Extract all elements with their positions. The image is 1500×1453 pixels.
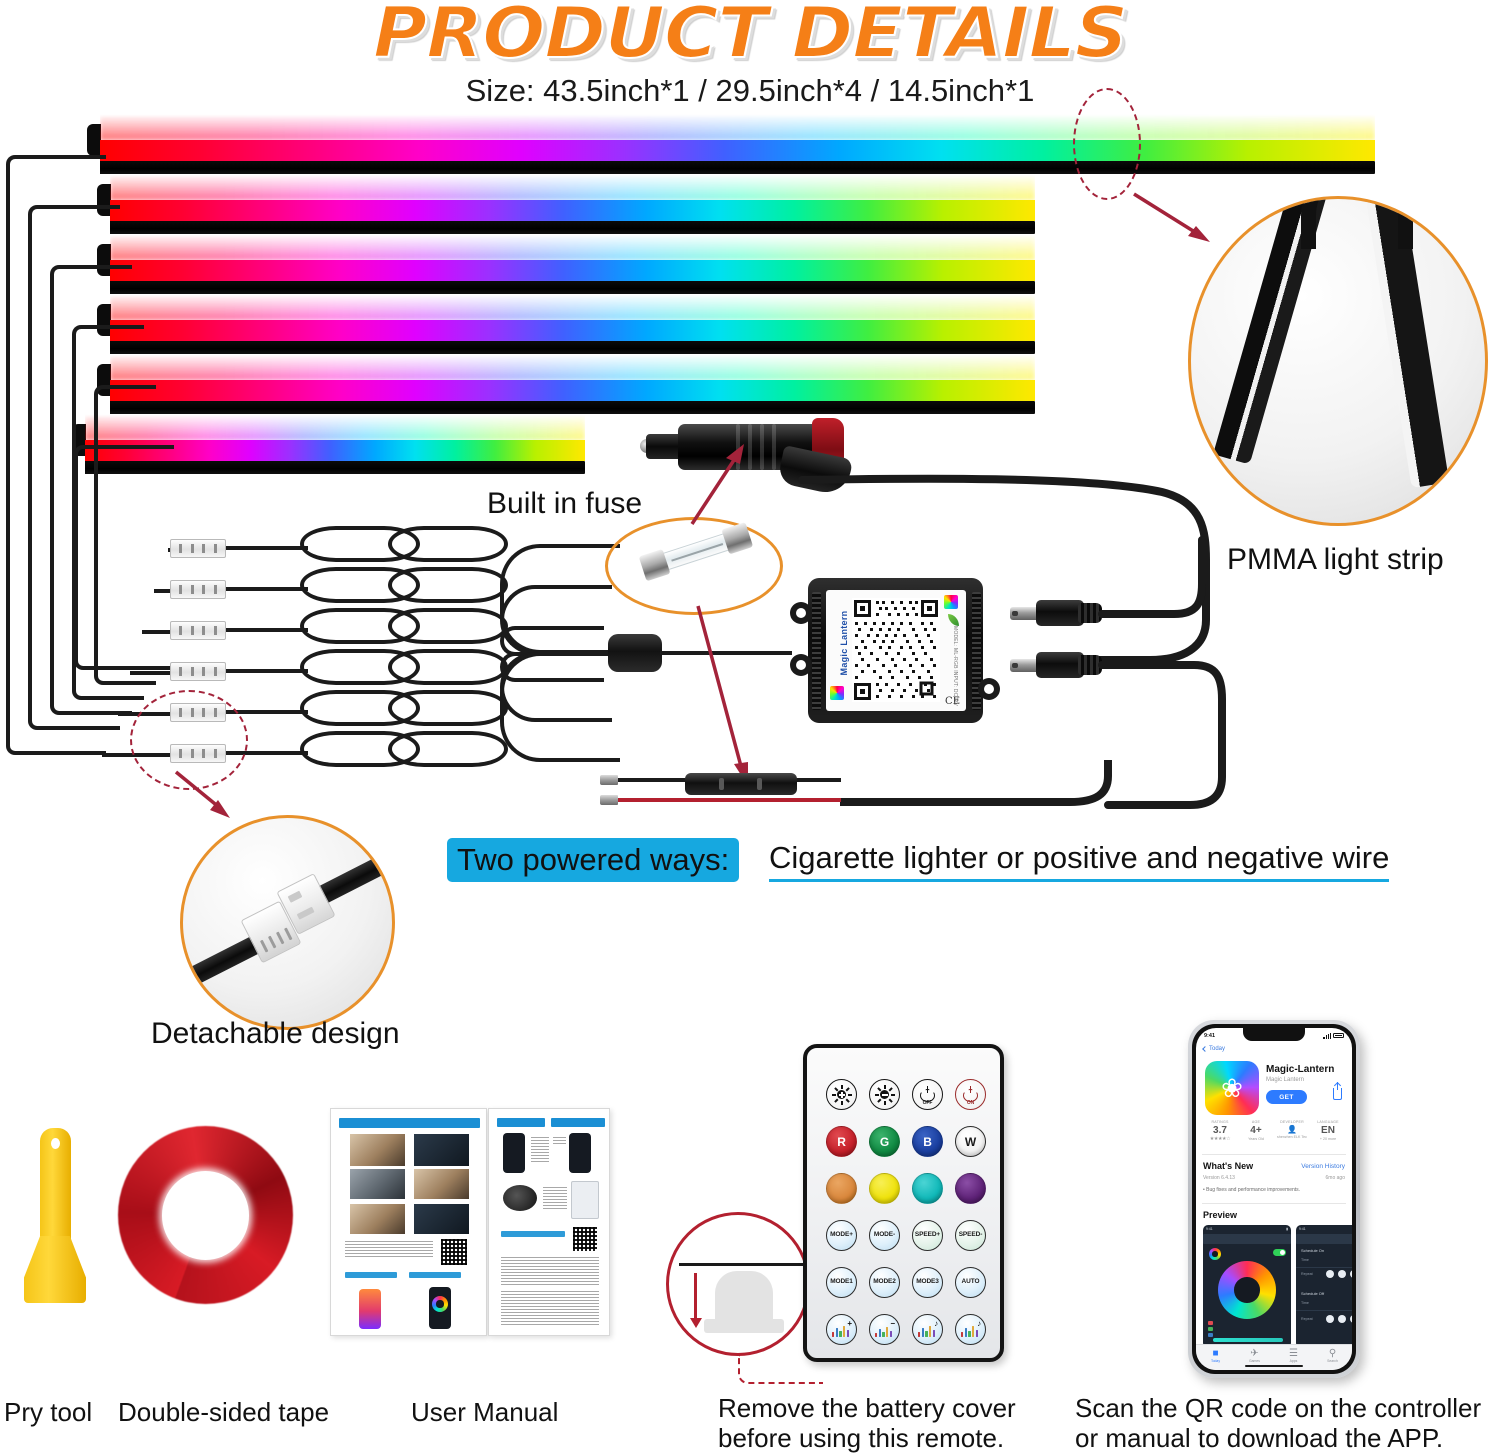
remote-button-bright-up[interactable] xyxy=(826,1079,857,1110)
controller-mount-ear xyxy=(978,678,1000,700)
manual-app-render xyxy=(503,1133,525,1173)
manual-text-block xyxy=(501,1291,599,1325)
remote-button-label: ON xyxy=(963,1101,978,1106)
app-note-line1: Scan the QR code on the controller xyxy=(1075,1393,1481,1423)
remote-button-mode1[interactable]: MODE1 xyxy=(826,1267,857,1298)
connector-wire xyxy=(154,589,170,593)
meta-caption: DEVELOPER xyxy=(1274,1120,1310,1124)
harness-wire xyxy=(226,628,308,632)
pmma-detail-photo xyxy=(1188,196,1488,526)
wire-ferrule xyxy=(600,795,618,805)
tab-search[interactable]: ⚲ Search xyxy=(1313,1348,1352,1363)
manual-text-block xyxy=(543,1187,567,1209)
light-strip-5 xyxy=(110,358,1035,408)
preview-time: 9:41 xyxy=(1299,1227,1306,1231)
release-notes: • Bug fixes and performance improvements… xyxy=(1203,1187,1300,1193)
remote-button-music-down[interactable]: − xyxy=(869,1314,900,1345)
pmma-label: PMMA light strip xyxy=(1227,543,1444,577)
manual-photo xyxy=(414,1204,469,1234)
detachable-design-label: Detachable design xyxy=(151,1017,400,1051)
pry-tool-blade xyxy=(24,1236,86,1303)
detach-slot xyxy=(288,891,303,903)
detach-pin xyxy=(260,940,269,953)
manual-section-bar xyxy=(501,1231,565,1237)
meta-caption: AGE xyxy=(1238,1120,1274,1124)
remote-button-mode-plus[interactable]: MODE+ xyxy=(826,1220,857,1251)
remote-button-off[interactable]: OFF xyxy=(912,1079,943,1110)
time-label-2: Time xyxy=(1301,1301,1309,1305)
ir-remote-control: OFF ON R G B W MODE+ MODE- SPEED+ SPEED-… xyxy=(803,1044,1004,1362)
music-note-1-icon: ♪ xyxy=(918,1322,937,1337)
detach-pin xyxy=(284,927,293,940)
harness-wire xyxy=(226,546,308,550)
remote-button-auto[interactable]: AUTO xyxy=(955,1267,986,1298)
tab-label: Search xyxy=(1313,1359,1352,1363)
strip-black-base xyxy=(110,281,1035,294)
strip-color-core xyxy=(110,260,1035,281)
cable-loop xyxy=(388,608,508,644)
manual-photo xyxy=(350,1204,405,1234)
remote-button-mode-minus[interactable]: MODE- xyxy=(869,1220,900,1251)
search-icon: ⚲ xyxy=(1313,1348,1352,1359)
preview-time: 9:41 xyxy=(1206,1227,1213,1231)
tab-today[interactable]: ■ Today xyxy=(1196,1348,1235,1363)
dc-cable-1 xyxy=(1098,530,1218,630)
manual-app-render xyxy=(569,1133,591,1173)
meta-value: EN xyxy=(1310,1125,1346,1136)
strip-black-base xyxy=(110,401,1035,414)
powered-ways-tag: Two powered ways: xyxy=(447,838,739,882)
manual-photo xyxy=(350,1169,405,1199)
color-wheel xyxy=(1218,1261,1276,1319)
meta-stars: ★★★★☆ xyxy=(1202,1136,1238,1142)
rgb-logo-icon xyxy=(944,595,958,609)
detach-slot xyxy=(297,907,315,920)
manual-caption: User Manual xyxy=(411,1397,558,1427)
manual-text-block xyxy=(553,1137,566,1145)
dc-plug-body xyxy=(1036,600,1084,626)
remote-button-speed-minus[interactable]: SPEED- xyxy=(955,1220,986,1251)
battery-cover-callout xyxy=(666,1212,810,1356)
strip-end-cap xyxy=(87,124,101,156)
meta-caption: LANGUAGE xyxy=(1310,1120,1346,1124)
brightness-down-icon xyxy=(876,1086,893,1103)
controller-brand-text: Magic Lantern xyxy=(839,604,849,682)
remote-button-label: MODE- xyxy=(874,1232,895,1239)
negative-wire-run xyxy=(840,760,1120,815)
music-note-2-icon: ♪ xyxy=(961,1322,980,1337)
battery-note-line2: before using this remote. xyxy=(718,1423,1004,1453)
remote-button-label: AUTO xyxy=(962,1279,980,1286)
pmma-strip-bend xyxy=(1301,196,1413,249)
light-strip-3 xyxy=(110,238,1035,288)
inline-fuse-holder xyxy=(685,773,797,795)
meta-sub: Years Old xyxy=(1238,1137,1274,1141)
meta-value: 4+ xyxy=(1238,1125,1274,1136)
remote-button-label: R xyxy=(837,1136,846,1148)
app-note-line2: or manual to download the APP. xyxy=(1075,1423,1443,1453)
cable-loop xyxy=(388,567,508,603)
signal-icon xyxy=(1323,1033,1331,1039)
pry-tool xyxy=(24,1128,86,1303)
remote-button-label: MODE1 xyxy=(830,1279,853,1286)
manual-app-render xyxy=(429,1287,451,1329)
remote-button-music-1[interactable]: ♪ xyxy=(912,1314,943,1345)
brightness-core xyxy=(880,1090,889,1099)
day-toggle[interactable] xyxy=(1350,1315,1352,1323)
remote-button-music-2[interactable]: ♪ xyxy=(955,1314,986,1345)
light-strip-2 xyxy=(110,178,1035,228)
meta-developer: DEVELOPER 👤 shenzhen ELK Tec xyxy=(1274,1120,1310,1148)
cable-loop xyxy=(388,731,508,767)
strip-color-core xyxy=(110,380,1035,401)
share-icon[interactable] xyxy=(1333,1088,1342,1100)
light-strip-4 xyxy=(110,298,1035,348)
remote-button-label: SPEED+ xyxy=(915,1232,940,1239)
time-label: Time xyxy=(1301,1258,1309,1262)
manual-header-bar xyxy=(497,1118,545,1127)
pry-tool-caption: Pry tool xyxy=(4,1397,92,1427)
controller-label: Magic Lantern MODEL: ML-RGB INPUT: DC12V… xyxy=(826,590,966,711)
harness-wire xyxy=(226,669,308,673)
remote-button-music-up[interactable]: + xyxy=(826,1314,857,1345)
eco-leaf-icon xyxy=(948,614,959,626)
color-swatch-b xyxy=(1208,1333,1213,1337)
back-to-today-link[interactable]: Today xyxy=(1203,1046,1225,1052)
get-button[interactable]: GET xyxy=(1266,1090,1307,1104)
preview-screenshot-1[interactable]: 9:41 ▮ xyxy=(1203,1225,1291,1348)
harness-wire xyxy=(226,587,308,591)
preview-toolbar xyxy=(1203,1234,1291,1244)
brightness-up-icon xyxy=(833,1086,850,1103)
strip-wire-6 xyxy=(74,445,174,670)
brightness-slider[interactable] xyxy=(1213,1338,1283,1342)
battery-cover-tab xyxy=(715,1271,773,1333)
tape-roll-core xyxy=(162,1171,250,1260)
remote-button-label: MODE2 xyxy=(873,1279,896,1286)
manual-qr-code xyxy=(573,1227,597,1251)
battery-cover-caption: Remove the battery cover before using th… xyxy=(718,1393,1016,1453)
cable-loop xyxy=(388,649,508,685)
remote-button-mode3[interactable]: MODE3 xyxy=(912,1267,943,1298)
games-icon: ✈ xyxy=(1235,1348,1274,1359)
smartphone-mockup: 9:41 Today ❀ Magic-Lantern Magic Lantern… xyxy=(1188,1020,1360,1378)
battery-note-line1: Remove the battery cover xyxy=(718,1393,1016,1423)
lotus-glyph-icon: ❀ xyxy=(1221,1075,1243,1101)
remote-button-on[interactable]: ON xyxy=(955,1079,986,1110)
remote-button-orange[interactable] xyxy=(826,1173,857,1204)
qr-code xyxy=(852,598,940,702)
controller-mount-ear xyxy=(790,654,812,676)
preview-battery-icon: ▮ xyxy=(1286,1227,1288,1231)
manual-remote-photo xyxy=(571,1181,599,1219)
tab-label: Games xyxy=(1235,1359,1274,1363)
phone-screen: 9:41 Today ❀ Magic-Lantern Magic Lantern… xyxy=(1196,1028,1352,1370)
meta-sub: shenzhen ELK Tec xyxy=(1274,1135,1310,1139)
strip-glow xyxy=(100,114,1375,140)
connector-wire xyxy=(130,671,170,675)
double-sided-tape-roll xyxy=(118,1126,293,1304)
equalizer-minus-icon: − xyxy=(875,1322,894,1337)
manual-text-block xyxy=(531,1137,549,1163)
remote-button-red[interactable]: R xyxy=(826,1126,857,1157)
manual-qr-code xyxy=(441,1239,467,1265)
meta-language: LANGUAGE EN + 20 more xyxy=(1310,1120,1346,1148)
remote-button-bright-down[interactable] xyxy=(869,1079,900,1110)
strip-connector xyxy=(170,580,226,599)
manual-controller-photo xyxy=(503,1185,537,1211)
meta-caption: RATINGS xyxy=(1202,1120,1238,1124)
day-toggle[interactable] xyxy=(1326,1270,1334,1278)
phone-notch xyxy=(1243,1028,1305,1041)
schedule-on-label: Schedule On xyxy=(1301,1248,1324,1253)
day-toggle[interactable] xyxy=(1326,1315,1334,1323)
whats-new-title: What's New xyxy=(1203,1161,1253,1171)
user-manual-page-2 xyxy=(488,1108,610,1336)
rgb-logo-icon xyxy=(830,686,844,700)
connector-wire xyxy=(142,630,170,634)
meta-ratings: RATINGS 3.7 ★★★★☆ xyxy=(1202,1120,1238,1148)
status-time: 9:41 xyxy=(1204,1033,1215,1039)
mini-color-wheel xyxy=(1209,1248,1221,1260)
power-toggle[interactable] xyxy=(1273,1249,1286,1256)
preview-screenshot-2[interactable]: 9:41 Schedule On Time Repeat Schedule Of… xyxy=(1296,1225,1352,1348)
divider xyxy=(1296,1267,1352,1268)
strip-connector xyxy=(170,662,226,681)
controller-cert-text: MODEL: ML-RGB INPUT: DC12V xyxy=(951,626,958,706)
app-icon: ❀ xyxy=(1205,1061,1259,1115)
day-toggle[interactable] xyxy=(1338,1270,1346,1278)
led-controller-box: Magic Lantern MODEL: ML-RGB INPUT: DC12V… xyxy=(790,578,1000,723)
strip-black-base xyxy=(110,221,1035,234)
manual-header-bar xyxy=(339,1118,480,1128)
tab-apps[interactable]: ☰ Apps xyxy=(1274,1348,1313,1363)
dc-plug-body xyxy=(1036,652,1084,678)
equalizer-plus-icon: + xyxy=(832,1322,851,1337)
divider xyxy=(1296,1310,1352,1311)
manual-text-block xyxy=(345,1241,433,1257)
controller-mount-ear xyxy=(790,602,812,624)
tab-label: Apps xyxy=(1274,1359,1313,1363)
repeat-label-2: Repeat xyxy=(1301,1317,1313,1321)
manual-section-bar xyxy=(345,1272,397,1278)
plug-rib xyxy=(760,424,764,470)
remote-button-purple[interactable] xyxy=(955,1173,986,1204)
strip-color-core xyxy=(100,140,1375,161)
cable-loop xyxy=(388,526,508,562)
day-toggle[interactable] xyxy=(1350,1270,1352,1278)
harness-fan-wire xyxy=(500,652,620,762)
remote-button-cyan[interactable] xyxy=(912,1173,943,1204)
tab-label: Today xyxy=(1196,1359,1235,1363)
wire-ferrule xyxy=(600,775,618,785)
size-subtitle: Size: 43.5inch*1 / 29.5inch*4 / 14.5inch… xyxy=(0,73,1500,109)
detach-pin xyxy=(268,936,277,949)
schedule-off-label: Schedule Off xyxy=(1301,1291,1324,1296)
page-title: PRODUCT DETAILS xyxy=(0,0,1500,74)
strip-glow xyxy=(110,354,1035,380)
divider xyxy=(1202,1203,1346,1204)
battery-icon xyxy=(1333,1033,1344,1039)
meta-sub: + 20 more xyxy=(1310,1137,1346,1141)
day-toggle[interactable] xyxy=(1338,1315,1346,1323)
light-strip-1 xyxy=(100,118,1375,168)
manual-header-bar xyxy=(551,1118,605,1127)
fuse-to-plug-arrow xyxy=(680,440,760,530)
remote-button-label: MODE+ xyxy=(830,1232,853,1239)
preview-status-bar: 9:41 xyxy=(1296,1225,1352,1233)
dc-output-plug-2 xyxy=(1010,652,1102,678)
meta-age: AGE 4+ Years Old xyxy=(1238,1120,1274,1148)
remote-button-mode2[interactable]: MODE2 xyxy=(869,1267,900,1298)
app-meta-row: RATINGS 3.7 ★★★★☆ AGE 4+ Years Old DEVEL… xyxy=(1202,1120,1346,1148)
manual-text-block xyxy=(501,1257,599,1285)
repeat-label: Repeat xyxy=(1301,1272,1313,1276)
remote-edge-line xyxy=(679,1263,805,1266)
strip-black-base xyxy=(100,161,1375,174)
strip-connector xyxy=(170,621,226,640)
negative-wire xyxy=(616,798,841,802)
remote-button-green[interactable]: G xyxy=(869,1126,900,1157)
fuse-to-inline-arrow xyxy=(690,600,770,790)
pull-down-arrow-icon xyxy=(694,1273,697,1319)
qr-scan-caption: Scan the QR code on the controller or ma… xyxy=(1075,1393,1481,1453)
meta-value: 3.7 xyxy=(1202,1125,1238,1136)
remote-button-label: MODE3 xyxy=(916,1279,939,1286)
pmma-callout-arrow xyxy=(1130,190,1220,250)
strip-glow xyxy=(85,414,585,440)
strip-glow xyxy=(110,234,1035,260)
detach-pin xyxy=(276,931,285,944)
strip-color-core xyxy=(110,320,1035,341)
tape-caption: Double-sided tape xyxy=(118,1397,329,1427)
chevron-left-icon xyxy=(1202,1046,1208,1052)
remote-button-label: OFF xyxy=(920,1101,935,1106)
preview-status-bar: 9:41 ▮ xyxy=(1203,1225,1291,1233)
preview-title: Preview xyxy=(1203,1210,1237,1220)
strip-connector xyxy=(170,539,226,558)
strip-color-core xyxy=(110,200,1035,221)
built-in-fuse-label: Built in fuse xyxy=(487,487,642,521)
back-label: Today xyxy=(1209,1046,1225,1052)
cable-hub-connector xyxy=(608,634,662,672)
cable-loop xyxy=(388,690,508,726)
strip-glow xyxy=(110,174,1035,200)
manual-photo xyxy=(414,1134,469,1166)
remote-button-white[interactable]: W xyxy=(955,1126,986,1157)
app-name: Magic-Lantern xyxy=(1266,1064,1334,1075)
apps-icon: ☰ xyxy=(1274,1348,1313,1359)
power-off-icon: OFF xyxy=(920,1087,935,1102)
pry-tool-hole xyxy=(51,1138,60,1149)
powered-ways-description: Cigarette lighter or positive and negati… xyxy=(769,838,1389,882)
version-history-link[interactable]: Version History xyxy=(1301,1163,1345,1170)
developer-icon: 👤 xyxy=(1274,1125,1310,1134)
color-swatch-g xyxy=(1208,1327,1213,1331)
controller-vent xyxy=(812,592,821,710)
remote-button-blue[interactable]: B xyxy=(912,1126,943,1157)
manual-color-wheel xyxy=(432,1296,448,1312)
strip-glow xyxy=(110,294,1035,320)
detachable-detail-photo xyxy=(180,815,395,1030)
preview-toolbar xyxy=(1296,1234,1352,1244)
remote-button-label: B xyxy=(923,1136,932,1148)
remote-button-label: SPEED- xyxy=(959,1232,983,1239)
home-indicator xyxy=(1245,1365,1303,1368)
app-subtitle: Magic Lantern xyxy=(1266,1077,1304,1083)
tab-games[interactable]: ✈ Games xyxy=(1235,1348,1274,1363)
version-ago: 6mo ago xyxy=(1326,1175,1345,1181)
remote-button-speed-plus[interactable]: SPEED+ xyxy=(912,1220,943,1251)
manual-photo xyxy=(414,1169,469,1199)
remote-button-yellow[interactable] xyxy=(869,1173,900,1204)
manual-phone-render xyxy=(359,1289,381,1329)
divider xyxy=(1202,1154,1346,1155)
manual-photo xyxy=(350,1134,405,1166)
today-icon: ■ xyxy=(1196,1348,1235,1359)
remote-button-label: W xyxy=(965,1136,976,1148)
phone-bezel: 9:41 Today ❀ Magic-Lantern Magic Lantern… xyxy=(1192,1024,1356,1374)
ce-mark-icon: CE xyxy=(945,696,960,707)
brightness-core xyxy=(837,1090,846,1099)
plug-rib xyxy=(772,424,776,470)
powered-ways-banner: Two powered ways: Cigarette lighter or p… xyxy=(447,838,1472,882)
power-on-icon: ON xyxy=(963,1087,978,1102)
version-text: Version 6.4.13 xyxy=(1203,1175,1235,1181)
dc-output-plug-1 xyxy=(1010,600,1102,626)
color-swatch-r xyxy=(1208,1321,1213,1325)
user-manual-page-1 xyxy=(330,1108,487,1336)
strip-black-base xyxy=(110,341,1035,354)
pmma-source-marker xyxy=(1073,88,1141,200)
manual-section-bar xyxy=(409,1272,461,1278)
detachable-callout-arrow xyxy=(170,768,250,830)
remote-button-label: G xyxy=(880,1136,889,1148)
